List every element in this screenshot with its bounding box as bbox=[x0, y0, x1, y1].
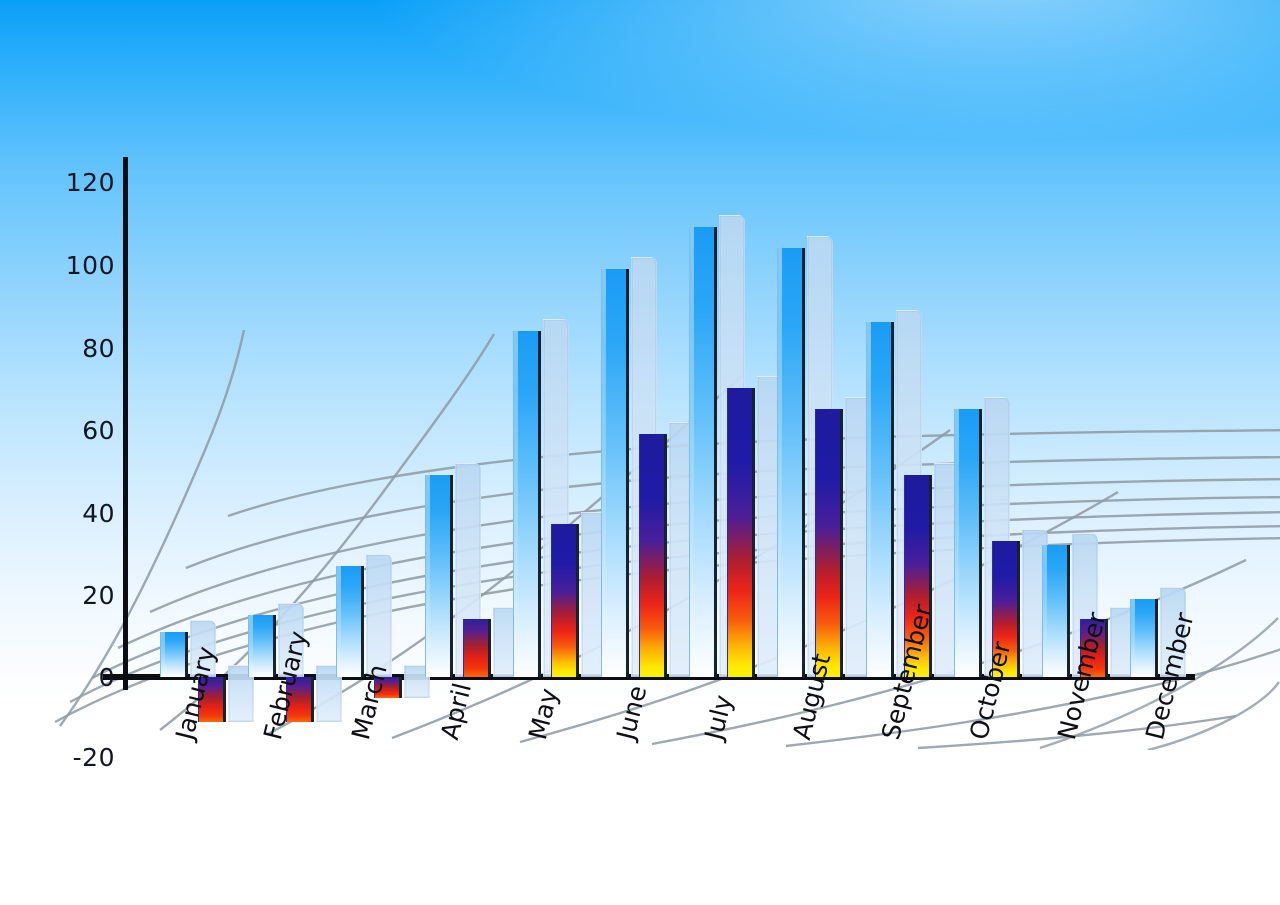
x-axis-label-june: June bbox=[613, 683, 650, 742]
x-axis-label-april: April bbox=[437, 681, 475, 743]
x-axis-label-layer: JanuaryFebruaryMarchAprilMayJuneJulyAugu… bbox=[0, 0, 1280, 905]
x-axis-label-july: July bbox=[701, 692, 736, 742]
x-axis-label-august: August bbox=[789, 651, 834, 742]
x-axis-label-may: May bbox=[525, 686, 562, 742]
x-axis-label-november: November bbox=[1054, 610, 1110, 742]
x-axis-label-october: October bbox=[966, 639, 1014, 742]
x-axis-label-september: September bbox=[878, 602, 936, 742]
x-axis-label-february: February bbox=[260, 629, 311, 743]
chart-canvas: 120 100 80 60 40 20 0 -20 JanuaryFebruar… bbox=[0, 0, 1280, 905]
x-axis-label-march: March bbox=[348, 662, 391, 742]
x-axis-label-december: December bbox=[1142, 610, 1198, 742]
x-axis-label-january: January bbox=[172, 644, 219, 742]
